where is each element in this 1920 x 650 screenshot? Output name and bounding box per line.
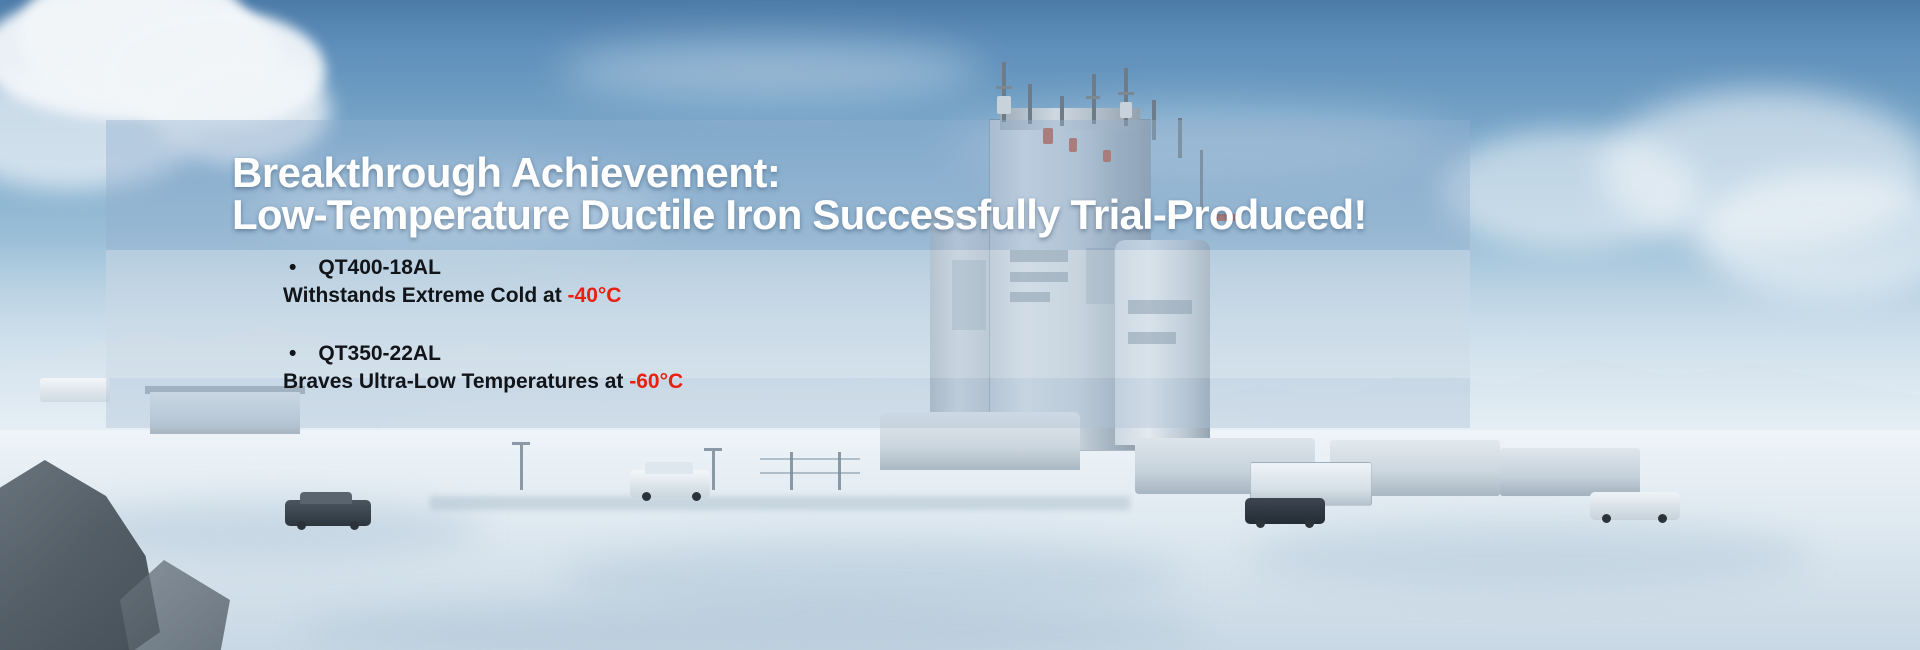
product-description: Withstands Extreme Cold at -40°C: [283, 284, 1183, 308]
antenna-mast: [1028, 84, 1032, 124]
antenna-crossbar: [1086, 96, 1100, 99]
vehicle-wheel: [350, 521, 359, 530]
parked-truck: [40, 378, 110, 402]
vehicle-wheel: [1658, 514, 1667, 523]
antenna-mast: [1092, 74, 1096, 124]
vehicle-wheel: [1256, 519, 1265, 528]
bullet-dot-icon: •: [289, 257, 296, 278]
product-description: Braves Ultra-Low Temperatures at -60°C: [283, 370, 1183, 394]
vehicle-wheel: [297, 521, 306, 530]
banner-title-line-1: Breakthrough Achievement:: [232, 152, 1472, 194]
product-grade-label: QT350-22AL: [318, 342, 441, 366]
product-description-text: Withstands Extreme Cold at: [283, 284, 568, 307]
product-grade-label: QT400-18AL: [318, 256, 441, 280]
snow-shadow: [1250, 520, 1810, 590]
banner-image: Breakthrough Achievement: Low-Temperatur…: [0, 0, 1920, 650]
product-bullet-list: • QT400-18AL Withstands Extreme Cold at …: [283, 256, 1183, 408]
list-item: • QT400-18AL Withstands Extreme Cold at …: [283, 256, 1183, 308]
vehicle-wheel: [692, 492, 701, 501]
utility-pole: [520, 442, 523, 490]
utility-pole: [712, 448, 715, 490]
bullet-heading: • QT350-22AL: [289, 342, 1183, 366]
vehicle-wheel: [642, 492, 651, 501]
fence-line: [760, 472, 860, 474]
fence-line: [760, 458, 860, 460]
banner-title-line-2: Low-Temperature Ductile Iron Successfull…: [232, 194, 1532, 236]
antenna-crossbar: [996, 86, 1012, 89]
vehicle-wheel: [1305, 519, 1314, 528]
bullet-heading: • QT400-18AL: [289, 256, 1183, 280]
product-description-text: Braves Ultra-Low Temperatures at: [283, 370, 629, 393]
temperature-value: -60°C: [629, 370, 683, 393]
vehicle-cabin: [300, 492, 352, 504]
depot-building: [1500, 448, 1640, 496]
vehicle-cabin: [645, 462, 693, 474]
vehicle-wheel: [1602, 514, 1611, 523]
bullet-dot-icon: •: [289, 343, 296, 364]
utility-pole-arm: [704, 448, 722, 451]
antenna-pod: [997, 96, 1011, 114]
utility-pole-arm: [512, 442, 530, 445]
snow-shadow: [560, 540, 1180, 610]
antenna-crossbar: [1118, 92, 1134, 95]
temperature-value: -40°C: [568, 284, 622, 307]
road-track: [430, 496, 1130, 510]
list-item: • QT350-22AL Braves Ultra-Low Temperatur…: [283, 342, 1183, 394]
antenna-pod: [1120, 102, 1132, 118]
cloud-shape: [560, 40, 980, 100]
